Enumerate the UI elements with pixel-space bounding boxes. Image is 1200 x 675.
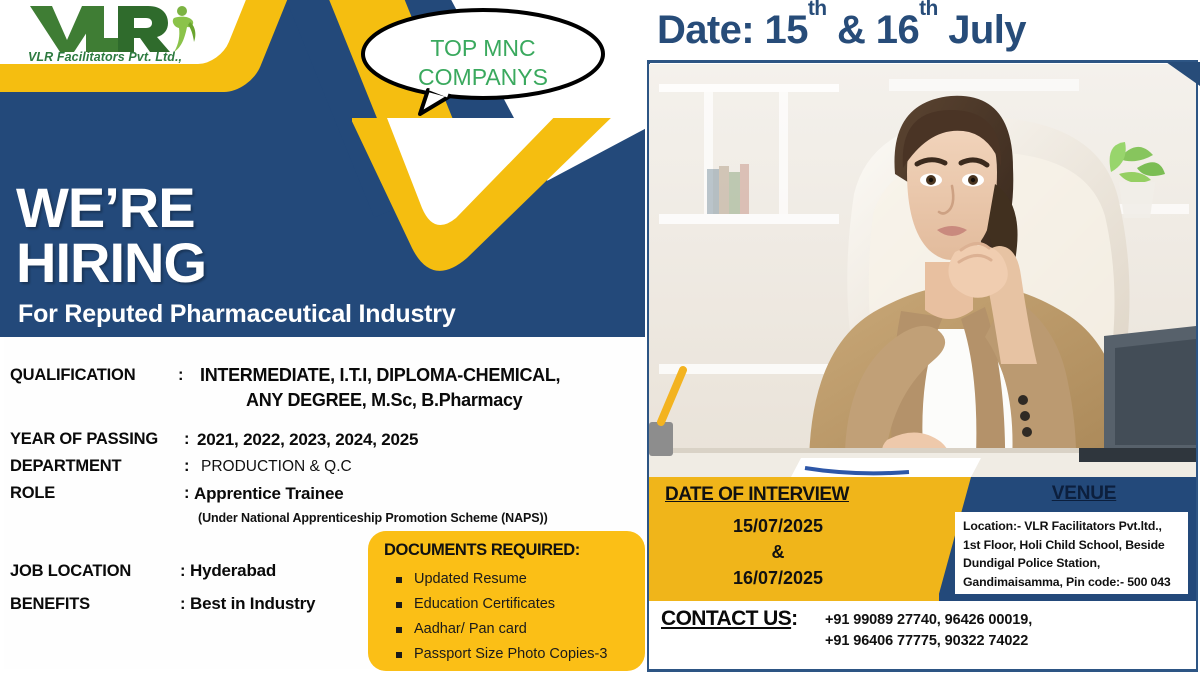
date-day-1: 15 [765,8,808,52]
contact-us-text: CONTACT US [661,607,791,630]
date-ordinal-2: th [919,0,938,20]
documents-title: DOCUMENTS REQUIRED: [384,541,580,560]
location-colon: : [180,562,186,581]
contact-phone-numbers[interactable]: +91 99089 27740, 96426 00019, +91 96406 … [825,610,1032,652]
phone-line-2[interactable]: +91 96406 77775, 90322 74022 [825,631,1032,652]
bubble-text: TOP MNC COMPANYS [358,34,608,92]
headline-line-2: HIRING [16,234,206,292]
company-logo: VLR Facilitators Pvt. Ltd., [22,2,222,72]
date-of-interview-title: DATE OF INTERVIEW [665,484,849,506]
left-panel: VLR Facilitators Pvt. Ltd., TOP MNC COMP… [0,0,645,675]
year-colon: : [184,430,190,449]
department-colon: : [184,457,190,476]
documents-list: Updated Resume Education Certificates Aa… [394,567,607,667]
venue-address-box: Location:- VLR Facilitators Pvt.ltd., 1s… [955,512,1188,594]
logo-subtitle: VLR Facilitators Pvt. Ltd., [28,50,182,64]
contact-colon: : [791,607,797,630]
headline-subtitle: For Reputed Pharmaceutical Industry [18,300,456,329]
qualification-colon: : [178,366,184,385]
qualification-label: QUALIFICATION [10,366,135,385]
list-item: Passport Size Photo Copies-3 [394,642,607,667]
right-panel: Date: 15th & 16th July [645,0,1200,675]
year-of-passing-label: YEAR OF PASSING [10,430,158,449]
benefits-colon: : [180,595,186,614]
department-value: PRODUCTION & Q.C [201,458,352,476]
venue-line-3: Dundigal Police Station, [963,554,1183,573]
qualification-value-line-1: INTERMEDIATE, I.T.I, DIPLOMA-CHEMICAL, [200,362,560,388]
contact-us-label: CONTACT US: [661,607,798,631]
interview-date-1: 15/07/2025 [663,513,893,539]
phone-line-1[interactable]: +91 99089 27740, 96426 00019, [825,610,1032,631]
vlr-logo-icon [22,2,202,54]
documents-required-box: DOCUMENTS REQUIRED: Updated Resume Educa… [368,531,645,671]
job-location-label: JOB LOCATION [10,562,131,581]
venue-address: Location:- VLR Facilitators Pvt.ltd., 1s… [963,517,1183,591]
interview-date-heading: Date: 15th & 16th July [657,8,1026,53]
venue-title: VENUE [989,483,1179,505]
headline-line-1: WE’RE [16,182,206,234]
department-label: DEPARTMENT [10,457,121,476]
interview-venue-strip: DATE OF INTERVIEW 15/07/2025 & 16/07/202… [649,477,1196,601]
role-label: ROLE [10,484,55,503]
interview-date-2: 16/07/2025 [663,565,893,591]
date-ampersand: & [826,8,875,52]
role-colon: : [184,484,190,503]
date-ordinal-1: th [808,0,827,20]
blue-corner-accent [1166,62,1200,86]
office-portrait-image [649,64,1196,477]
bubble-line-2: COMPANYS [358,63,608,92]
venue-line-4: Gandimaisamma, Pin code:- 500 043 [963,573,1183,592]
venue-line-2: 1st Floor, Holi Child School, Beside [963,536,1183,555]
role-note: (Under National Apprenticeship Promotion… [198,511,548,525]
date-day-2: 16 [876,8,919,52]
bubble-line-1: TOP MNC [358,34,608,63]
qualification-value-line-2: ANY DEGREE, M.Sc, B.Pharmacy [246,387,522,413]
interview-dates: 15/07/2025 & 16/07/2025 [663,513,893,591]
top-mnc-speech-bubble: TOP MNC COMPANYS [358,6,608,116]
list-item: Updated Resume [394,567,607,592]
benefits-value: Best in Industry [190,594,315,614]
role-value: Apprentice Trainee [194,484,343,504]
headline: WE’RE HIRING [16,182,206,292]
list-item: Aadhar/ Pan card [394,617,607,642]
date-month: July [938,8,1026,52]
benefits-label: BENEFITS [10,595,90,614]
list-item: Education Certificates [394,592,607,617]
job-recruitment-poster: VLR Facilitators Pvt. Ltd., TOP MNC COMP… [0,0,1200,675]
job-location-value: Hyderabad [190,561,276,581]
contact-section: CONTACT US: +91 99089 27740, 96426 00019… [649,601,1196,669]
interview-date-ampersand: & [663,539,893,565]
date-prefix: Date: [657,8,765,52]
venue-line-1: Location:- VLR Facilitators Pvt.ltd., [963,517,1183,536]
businesswoman-photo [649,64,1196,477]
year-of-passing-value: 2021, 2022, 2023, 2024, 2025 [197,430,418,450]
